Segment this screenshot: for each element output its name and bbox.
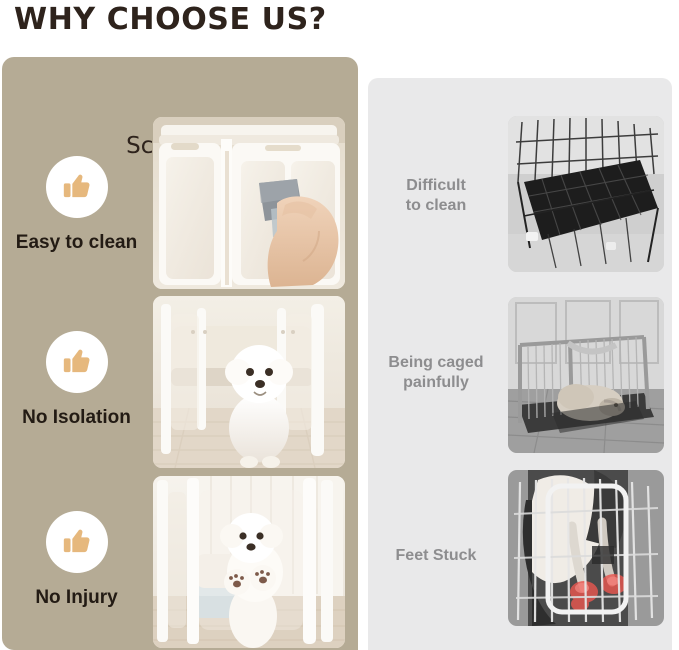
thumbs-up-icon (46, 511, 108, 573)
pro-feature-label: No Isolation (22, 407, 131, 429)
thumbs-up-icon (46, 331, 108, 393)
con-label-feet-stuck: Feet Stuck (374, 546, 498, 566)
pro-feature-label: Easy to clean (16, 232, 137, 254)
dog-curled-in-wire-pen-photo (508, 297, 664, 453)
pro-feature-no-injury: No Injury (0, 511, 153, 609)
pro-feature-easy-to-clean: Easy to clean (0, 156, 153, 254)
black-wire-cage-photo (508, 116, 664, 272)
pro-feature-no-isolation: No Isolation (0, 331, 153, 429)
con-label-line: Feet Stuck (374, 546, 498, 566)
page-title: WHY CHOOSE US? (14, 2, 327, 37)
pro-feature-label: No Injury (35, 587, 117, 609)
con-label-line: Difficult (374, 176, 498, 196)
hand-wiping-crate-photo (153, 117, 345, 289)
dog-standing-in-open-pen-photo (153, 296, 345, 468)
con-label-line: Being caged (374, 353, 498, 373)
con-label-line: to clean (374, 196, 498, 216)
con-label-difficult-to-clean: Difficult to clean (374, 176, 498, 216)
thumbs-up-icon (46, 156, 108, 218)
con-label-being-caged-painfully: Being caged painfully (374, 353, 498, 393)
dog-paws-stuck-in-wire-photo (508, 470, 664, 626)
dog-paws-on-clear-panel-photo (153, 476, 345, 648)
con-label-line: painfully (374, 373, 498, 393)
